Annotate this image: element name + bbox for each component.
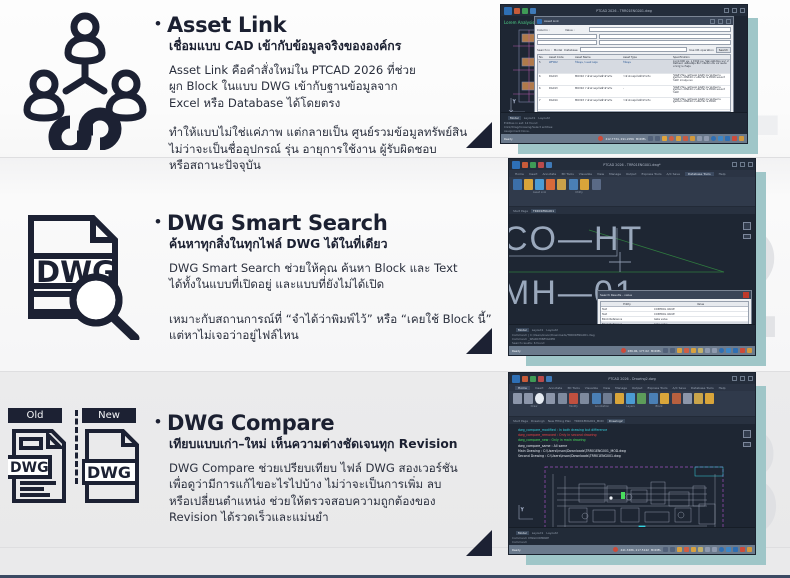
cad-window-title: PTCAD 2026 - Drawing2.dwg — [608, 377, 655, 381]
tab-ac-save[interactable]: A/C Save — [667, 172, 680, 176]
grid-icon[interactable] — [663, 547, 668, 552]
dwg-compare-legend: dwg_compare_modified : In both drawing b… — [518, 428, 626, 459]
status-coordinates: 412.7734, 291.2056 — [605, 137, 633, 141]
cell-value: Gate valve — [653, 322, 748, 324]
text-icon[interactable] — [592, 393, 601, 404]
line: ได้ทั้งในแบบที่เปิดอยู่ และแบบที่ยังไม่ไ… — [169, 276, 495, 292]
cell-entity: Block Reference — [601, 317, 653, 321]
quick-access-icon[interactable] — [546, 376, 552, 382]
cell-name: MOV02 วาล์วควบคุมไฟฟ้าสำหรับ — [574, 74, 622, 85]
text-scale-icon[interactable] — [704, 136, 709, 141]
bullet-icon: • — [155, 213, 161, 230]
clean-screen-icon[interactable] — [740, 547, 745, 552]
tab-manage[interactable]: Manage — [615, 386, 627, 390]
create-block-icon[interactable] — [660, 393, 669, 404]
ribbon-tabs[interactable]: Home Insert Annotate 3D Tools Visualize … — [509, 384, 755, 391]
record-icon[interactable] — [613, 547, 618, 552]
status-ready: Ready — [504, 137, 513, 141]
app-logo-icon — [504, 7, 512, 15]
cell-name: MOV03 วาล์วควบคุมไฟฟ้าสำหรับ — [574, 98, 622, 109]
screenshot-dwg-smart-search[interactable]: PTCAD 2026 - TRR01ENG001.dwg* Home Inser… — [508, 158, 756, 356]
dialog-select-column[interactable] — [537, 34, 731, 39]
ribbon-icons[interactable] — [592, 393, 612, 404]
ribbon-group-compare[interactable] — [592, 179, 601, 190]
close-icon[interactable] — [743, 292, 749, 298]
tab-output[interactable]: Output — [626, 172, 636, 176]
isolate-icon[interactable] — [733, 348, 738, 353]
tab-express-tools[interactable]: Express Tools — [647, 386, 667, 390]
tab-home[interactable]: Home — [515, 172, 524, 176]
osnap-icon[interactable] — [691, 348, 696, 353]
drawing-file-tabs[interactable]: Start Page Drawing1 New Fitting Plan TRR… — [509, 417, 755, 424]
column-select[interactable] — [537, 34, 597, 39]
lineweight-icon[interactable] — [690, 136, 695, 141]
dialog-icon — [537, 19, 542, 24]
table-row[interactable]: 6 DG013 MOV02 วาล์วควบคุมไฟฟ้าสำหรับ วาล… — [538, 74, 730, 86]
dialog-titlebar: Asset Link — [535, 17, 733, 25]
line: หรือสถานะปัจจุบัน — [169, 157, 485, 173]
ortho-icon[interactable] — [677, 348, 682, 353]
old-version-group: Old DWG — [8, 408, 70, 505]
line: ไม่ว่าจะเป็นชื่ออุปกรณ์ รุ่น อายุการใช้ง… — [169, 141, 485, 157]
tab-layout1[interactable]: Layout1 — [532, 328, 544, 332]
file-tab-new-fitting-plan[interactable]: New Fitting Plan — [548, 419, 571, 423]
snap-icon[interactable] — [670, 547, 675, 552]
old-dwg-document-icon: DWG — [8, 427, 70, 505]
search-results-dialog[interactable]: Search Results - value Entity Value Tex — [597, 290, 752, 324]
copy-icon[interactable] — [580, 393, 589, 404]
file-tab-start-page[interactable]: Start Page — [513, 209, 528, 213]
ribbon-icons[interactable] — [592, 179, 601, 190]
cell-code: DG013 — [548, 74, 574, 85]
line-icon[interactable] — [513, 393, 522, 404]
status-mode[interactable]: MODEL — [651, 548, 661, 552]
col-value: Value — [653, 302, 748, 306]
cell-spec: วัสดุตัวเรือน เหล็กหล่อ GG25 ขนาดเส้นผ่า… — [672, 74, 730, 85]
tab-database-tools[interactable]: Database Tools — [685, 172, 714, 176]
cell-value: CONTROL VALVE — [653, 312, 748, 316]
window-controls[interactable] — [732, 376, 753, 381]
screenshot-frame[interactable]: PTCAD 2026 - Drawing2.dwg Home Insert An… — [508, 372, 756, 555]
maximize-icon — [740, 162, 745, 167]
view-data-icon[interactable] — [535, 179, 544, 190]
cad-command-line[interactable]: Model Layout1 Layout2 Entities in set: 1… — [501, 112, 747, 134]
ribbon-group-annotation[interactable]: Annotation — [592, 393, 612, 408]
screenshot-frame[interactable]: PTCAD 2026 - TRR01ENG001.dwg Lorem Analy… — [500, 4, 748, 144]
line: ผูก Block ในแบบ DWG เข้ากับฐานข้อมูลจาก — [169, 78, 485, 94]
viewcube-icon[interactable] — [743, 222, 751, 230]
polyline-icon[interactable] — [524, 393, 533, 404]
cad-window-title: PTCAD 2026 - TRR01ENG001.dwg — [596, 9, 652, 13]
quick-access-icon[interactable] — [530, 376, 536, 382]
dialog-title: Search Results - value — [600, 293, 632, 297]
quick-access-icon[interactable] — [538, 162, 544, 168]
dialog-title: Asset Link — [544, 19, 559, 23]
value-select-2[interactable] — [599, 40, 731, 45]
tab-express-tools[interactable]: Express Tools — [641, 172, 661, 176]
ribbon-group-draw[interactable]: Draw — [513, 393, 555, 408]
tab-model[interactable]: Model — [508, 116, 521, 120]
tab-help[interactable]: Help — [719, 386, 726, 390]
properties-icon[interactable] — [672, 393, 681, 404]
insert-block-icon[interactable] — [649, 393, 658, 404]
close-icon — [726, 19, 731, 24]
clean-screen-icon[interactable] — [732, 136, 737, 141]
tab-output[interactable]: Output — [632, 386, 642, 390]
corner-accent-triangle-2 — [466, 328, 492, 354]
corner-accent-triangle-3 — [466, 530, 492, 556]
dialog-body: Column : Value : — [535, 25, 733, 112]
screenshot-dwg-compare[interactable]: PTCAD 2026 - Drawing2.dwg Home Insert An… — [508, 372, 756, 555]
line: เพื่อดูว่ามีการแก้ไขอะไรไปบ้าง ไม่ว่าจะเ… — [169, 476, 495, 492]
cad-status-bar[interactable]: Ready 441.3486, 217.5142 MODEL — [509, 545, 755, 554]
circle-icon[interactable] — [535, 393, 544, 404]
cell-entity: Text — [601, 307, 653, 311]
chip-old: Old — [8, 408, 62, 423]
search-button[interactable]: Search — [716, 47, 731, 53]
bullet-icon: • — [155, 413, 161, 430]
app-logo-icon — [512, 375, 520, 383]
ribbon-icons[interactable] — [569, 179, 589, 190]
tab-manage[interactable]: Manage — [609, 172, 621, 176]
tab-view[interactable]: View — [603, 386, 610, 390]
assign-data-icon[interactable] — [524, 179, 533, 190]
feature-text-asset-link: • Asset Link เชื่อมแบบ CAD เข้ากับข้อมูล… — [155, 14, 485, 173]
cad-status-bar[interactable]: Ready 412.7734, 291.2056 MODEL — [501, 134, 747, 143]
customize-icon[interactable] — [747, 348, 752, 353]
hardware-icon[interactable] — [718, 136, 723, 141]
record-icon[interactable] — [621, 348, 626, 353]
file-tab-drawing1[interactable]: Drawing1 — [531, 419, 545, 423]
ribbon-tabs[interactable]: Home Insert Annotate 3D Tools Visualize … — [509, 170, 755, 177]
otrack-icon[interactable] — [698, 547, 703, 552]
arc-icon[interactable] — [546, 393, 555, 404]
ribbon-group-label: Asset Link — [533, 191, 546, 194]
tab-model[interactable]: Model — [516, 328, 529, 332]
ribbon-icons[interactable] — [649, 393, 669, 404]
line: เหมาะกับสถานการณ์ที่ “จำได้ว่าพิมพ์ไว้” … — [169, 311, 495, 327]
table-row[interactable]: 5 WF002 ใช้หมุน / แผงควบคุม ใช้หมุน ขนาด… — [538, 60, 730, 74]
cad-drawing-canvas[interactable]: dwg_compare_modified : In both drawing b… — [509, 424, 755, 527]
column-select-2[interactable] — [537, 40, 597, 45]
table-row[interactable]: 7 DG014 MOV03 วาล์วควบคุมไฟฟ้าสำหรับ วาล… — [538, 98, 730, 110]
field-label: Value : — [565, 28, 587, 32]
move-icon[interactable] — [558, 393, 567, 404]
svg-text:Y: Y — [520, 507, 524, 512]
annotation-icon[interactable] — [697, 136, 702, 141]
workspace-icon[interactable] — [719, 348, 724, 353]
grid-icon[interactable] — [648, 136, 653, 141]
cell-name: MOV02 วาล์วควบคุมไฟฟ้าสำหรับ — [574, 86, 622, 97]
tab-model[interactable]: Model — [516, 531, 529, 535]
ribbon-group-label: Utility — [575, 191, 583, 194]
file-tab-drawing[interactable]: TRR01ENG001 — [531, 209, 556, 213]
corner-accent-triangle-1 — [466, 122, 492, 148]
bullet-icon: • — [155, 15, 161, 32]
asset-link-dialog[interactable]: Asset Link Column : Value : — [534, 16, 734, 112]
line: Excel หรือ Database ได้โดยตรง — [169, 95, 485, 111]
delete-data-icon[interactable] — [546, 179, 555, 190]
minimize-icon — [710, 19, 715, 24]
maximize-icon — [740, 376, 745, 381]
ribbon-group-asset-link[interactable]: Asset Link — [513, 179, 566, 194]
line: DWG Compare ช่วยเปรียบเทียบ ไฟล์ DWG สอง… — [169, 460, 495, 476]
tab-3d-tools[interactable]: 3D Tools — [561, 172, 574, 176]
drawing-file-tabs[interactable]: Start Page TRR01ENG001 — [509, 207, 755, 214]
quick-access-icon[interactable] — [546, 162, 552, 168]
dialog-search-row[interactable]: Search in : Model Database Use OR operat… — [537, 47, 731, 53]
app-logo-icon — [512, 161, 520, 169]
search-input[interactable] — [580, 47, 688, 52]
search-in-label: Search in : — [537, 48, 552, 52]
feature-paragraph-1a: Asset Link คือคำสั่งใหม่ใน PTCAD 2026 ที… — [169, 62, 485, 111]
dialog-select-column-2[interactable] — [537, 40, 731, 45]
cell-value: CONTROL VALVE — [653, 307, 748, 311]
feature-text-dwg-smart-search: • DWG Smart Search ค้นหาทุกสิ่งในทุกไฟล์… — [155, 212, 495, 344]
cad-titlebar: PTCAD 2026 - Drawing2.dwg — [509, 373, 755, 384]
tab-database-tools[interactable]: Database Tools — [691, 386, 714, 390]
window-controls[interactable] — [732, 162, 753, 167]
hardware-icon[interactable] — [726, 547, 731, 552]
tab-insert[interactable]: Insert — [529, 172, 538, 176]
navbar-icon[interactable] — [743, 234, 751, 239]
layer-state-icon[interactable] — [626, 393, 635, 404]
tab-ac-save[interactable]: A/C Save — [673, 386, 686, 390]
search-in-folder-icon[interactable] — [580, 179, 589, 190]
snap-icon[interactable] — [670, 348, 675, 353]
cad-app-window: PTCAD 2026 - Drawing2.dwg Home Insert An… — [509, 373, 755, 554]
radio-model[interactable]: Model — [554, 48, 562, 52]
cell-no: 6 — [538, 74, 548, 85]
erase-icon[interactable] — [569, 393, 578, 404]
feature-heading-row-1: • Asset Link — [155, 14, 485, 37]
col-specification: Specification — [672, 55, 730, 59]
tab-view[interactable]: View — [597, 172, 604, 176]
close-icon — [740, 8, 745, 13]
cell-no: 6 — [538, 86, 548, 97]
cell-code[interactable]: WF002 — [548, 60, 574, 73]
feature-subtitle-1: เชื่อมแบบ CAD เข้ากับข้อมูลจริงขององค์กร — [169, 38, 485, 55]
file-tab-start-page[interactable]: Start Page — [513, 419, 528, 423]
status-mode[interactable]: MODEL — [636, 137, 646, 141]
close-icon — [748, 376, 753, 381]
radio-database[interactable]: Database — [564, 48, 577, 52]
osnap-icon[interactable] — [676, 136, 681, 141]
cell-name: ใช้หมุน / แผงควบคุม — [574, 60, 622, 73]
screenshot-asset-link[interactable]: PTCAD 2026 - TRR01ENG001.dwg Lorem Analy… — [500, 4, 748, 144]
ribbon-group-modify[interactable]: Modify — [558, 393, 589, 408]
dimension-icon[interactable] — [603, 393, 612, 404]
layer-on-icon[interactable] — [637, 393, 646, 404]
file-tab-trr01eng001-mod[interactable]: TRR01ENG001_MOD — [574, 419, 604, 423]
ribbon-group-layers[interactable]: Layers — [615, 393, 646, 408]
file-tab-drawing2[interactable]: Drawing2 — [607, 419, 625, 423]
feature-paragraph-2a: DWG Smart Search ช่วยให้คุณ ค้นหา Block … — [169, 260, 495, 293]
database-icon[interactable] — [513, 179, 522, 190]
cell-spec: วัสดุตัวเรือน เหล็กหล่อ GG25 ขนาดเส้นผ่า… — [672, 86, 730, 97]
ribbon-icons[interactable] — [615, 393, 646, 404]
workspace-icon[interactable] — [711, 136, 716, 141]
quick-access-icon[interactable] — [530, 162, 536, 168]
tab-layout1[interactable]: Layout1 — [532, 531, 544, 535]
utility-compare-icon[interactable] — [592, 179, 601, 190]
tab-annotate[interactable]: Annotate — [548, 386, 562, 390]
lineweight-icon[interactable] — [705, 348, 710, 353]
ribbon-panel[interactable]: Draw Modify — [509, 391, 755, 417]
ribbon-panel[interactable]: Asset Link Utility — [509, 177, 755, 207]
feature-subtitle-3: เทียบแบบเก่า–ใหม่ เห็นความต่างชัดเจนทุก … — [169, 436, 495, 453]
tab-visualize[interactable]: Visualize — [585, 386, 598, 390]
quick-access-icon[interactable] — [522, 8, 528, 14]
cad-canvas-text-1: CO—HT — [509, 220, 643, 259]
customize-icon[interactable] — [747, 547, 752, 552]
ribbon-group-utility[interactable]: Utility — [569, 179, 589, 194]
quick-access-icon[interactable] — [514, 8, 520, 14]
col-asset-type: Asset Type — [622, 55, 672, 59]
viewcube-icon[interactable] — [743, 430, 751, 438]
search-results-table[interactable]: Entity Value Text CONTROL VALVE Text CON… — [600, 301, 749, 324]
ribbon-icons[interactable] — [672, 393, 714, 404]
layer-properties-icon[interactable] — [615, 393, 624, 404]
feature-title-3: DWG Compare — [167, 412, 334, 435]
line: DWG Smart Search ช่วยให้คุณ ค้นหา Block … — [169, 260, 495, 276]
svg-text:Y: Y — [512, 99, 516, 104]
line: Asset Link คือคำสั่งใหม่ใน PTCAD 2026 ที… — [169, 62, 485, 78]
cad-command-line[interactable]: Model Layout1 Layout2 Command: DWGCOMPAR… — [509, 527, 755, 545]
dialog-field-column[interactable]: Column : Value : — [537, 27, 731, 32]
cad-drawing-canvas[interactable]: CO—HT MH—01 Search Results - value — [509, 214, 755, 324]
tab-home[interactable]: Home — [515, 386, 530, 390]
feature-text-dwg-compare: • DWG Compare เทียบแบบเก่า–ใหม่ เห็นความ… — [155, 412, 495, 526]
clean-screen-icon[interactable] — [740, 348, 745, 353]
tab-visualize[interactable]: Visualize — [579, 172, 592, 176]
quick-access-icon[interactable] — [522, 376, 528, 382]
quick-access-icon[interactable] — [538, 376, 544, 382]
feature-subtitle-2: ค้นหาทุกสิ่งในทุกไฟล์ DWG ได้ในที่เดียว — [169, 236, 495, 253]
clipboard-icon[interactable] — [705, 393, 714, 404]
cell-type: - — [622, 86, 672, 97]
tab-layout2[interactable]: Layout2 — [538, 116, 550, 120]
tab-insert[interactable]: Insert — [535, 386, 544, 390]
table-row[interactable]: 6 DG013 MOV02 วาล์วควบคุมไฟฟ้าสำหรับ - ว… — [538, 86, 730, 98]
ribbon-group-properties[interactable] — [672, 393, 714, 404]
groups-icon[interactable] — [683, 393, 692, 404]
tab-layout1[interactable]: Layout1 — [524, 116, 536, 120]
minimize-icon — [732, 162, 737, 167]
polar-icon[interactable] — [669, 136, 674, 141]
col-asset-code: Asset Code — [548, 55, 574, 59]
otrack-icon[interactable] — [698, 348, 703, 353]
minimize-icon — [724, 8, 729, 13]
tab-3d-tools[interactable]: 3D Tools — [567, 386, 580, 390]
tab-layout2[interactable]: Layout2 — [546, 531, 558, 535]
cad-drawing-canvas[interactable]: Lorem Analysis — [501, 16, 747, 112]
line: Revision ได้รวดเร็วและแม่นยำ — [169, 509, 495, 525]
options-icon[interactable] — [557, 179, 566, 190]
cad-command-line[interactable]: Model Layout1 Layout2 Command: | C:/User… — [509, 324, 755, 346]
polar-icon[interactable] — [684, 547, 689, 552]
ribbon-icons[interactable] — [513, 179, 566, 190]
status-mode[interactable]: MODEL — [651, 349, 661, 353]
ribbon-group-label: Block — [655, 405, 662, 408]
status-ready: Ready — [512, 548, 521, 552]
status-coordinates: 286.06, 177.02 — [628, 349, 649, 353]
tab-layout2[interactable]: Layout2 — [546, 328, 558, 332]
customize-icon[interactable] — [739, 136, 744, 141]
annotation-icon[interactable] — [712, 348, 717, 353]
lineweight-icon[interactable] — [705, 547, 710, 552]
checkbox-use-or-operation[interactable]: Use OR operation — [689, 48, 714, 52]
feature-paragraph-2b: เหมาะกับสถานการณ์ที่ “จำได้ว่าพิมพ์ไว้” … — [169, 311, 495, 344]
tab-annotate[interactable]: Annotate — [542, 172, 556, 176]
osnap-icon[interactable] — [691, 547, 696, 552]
cell-entity: Text — [601, 312, 653, 316]
feature-title-1: Asset Link — [167, 14, 286, 37]
quick-access-icon[interactable] — [522, 162, 528, 168]
feature-heading-row-2: • DWG Smart Search — [155, 212, 495, 235]
quick-access-icon[interactable] — [530, 8, 536, 14]
record-icon[interactable] — [598, 136, 603, 141]
cell-spec: วัสดุตัวเรือน เหล็กหล่อ GG25 ขนาดเส้นผ่า… — [672, 98, 730, 109]
maximize-icon — [718, 19, 723, 24]
cad-status-bar[interactable]: Ready 286.06, 177.02 MODEL — [509, 346, 755, 355]
polar-icon[interactable] — [684, 348, 689, 353]
col-asset-name: Asset Name — [574, 55, 622, 59]
screenshot-frame[interactable]: PTCAD 2026 - TRR01ENG001.dwg* Home Inser… — [508, 158, 756, 356]
snap-icon[interactable] — [655, 136, 660, 141]
hardware-icon[interactable] — [726, 348, 731, 353]
ribbon-group-block[interactable]: Block — [649, 393, 669, 408]
workspace-icon[interactable] — [719, 547, 724, 552]
field-label: Column : — [537, 28, 563, 32]
chip-new: New — [82, 408, 136, 423]
line: ทำให้แบบไม่ใช่แค่ภาพ แต่กลายเป็น ศูนย์รว… — [169, 124, 485, 140]
asset-table[interactable]: No. Asset Code Asset Name Asset Type Spe… — [537, 54, 731, 112]
navbar-icon[interactable] — [743, 442, 751, 447]
status-ready: Ready — [512, 349, 521, 353]
people-network-link-icon — [22, 8, 148, 150]
table-row[interactable]: Block Reference Gate valve — [601, 322, 748, 324]
value-input[interactable] — [589, 27, 731, 32]
dialog-titlebar: Search Results - value — [598, 291, 751, 299]
window-controls[interactable] — [724, 8, 745, 13]
cell-no: 7 — [538, 98, 548, 109]
close-icon — [748, 162, 753, 167]
ortho-icon[interactable] — [662, 136, 667, 141]
ribbon-icons[interactable] — [558, 393, 589, 404]
ribbon-icons[interactable] — [513, 393, 555, 404]
status-coordinates: 441.3486, 217.5142 — [620, 548, 648, 552]
col-entity: Entity — [601, 302, 653, 306]
value-select[interactable] — [599, 34, 731, 39]
grid-icon[interactable] — [663, 348, 668, 353]
feature-title-2: DWG Smart Search — [167, 212, 388, 235]
cell-no: 5 — [538, 60, 548, 73]
svg-text:DWG: DWG — [87, 463, 131, 482]
dialog-window-controls[interactable] — [710, 19, 731, 24]
cad-titlebar: PTCAD 2026 - TRR01ENG001.dwg — [501, 5, 747, 16]
tab-help[interactable]: Help — [719, 172, 726, 176]
feature-paragraph-1b: ทำให้แบบไม่ใช่แค่ภาพ แต่กลายเป็น ศูนย์รว… — [169, 124, 485, 173]
ortho-icon[interactable] — [677, 547, 682, 552]
utilities-icon[interactable] — [694, 393, 703, 404]
search-in-file-icon[interactable] — [569, 179, 578, 190]
isolate-icon[interactable] — [725, 136, 730, 141]
otrack-icon[interactable] — [683, 136, 688, 141]
infographic-page: 01 • Asset Link เชื่อมแบบ — [0, 0, 790, 578]
isolate-icon[interactable] — [733, 547, 738, 552]
annotation-icon[interactable] — [712, 547, 717, 552]
